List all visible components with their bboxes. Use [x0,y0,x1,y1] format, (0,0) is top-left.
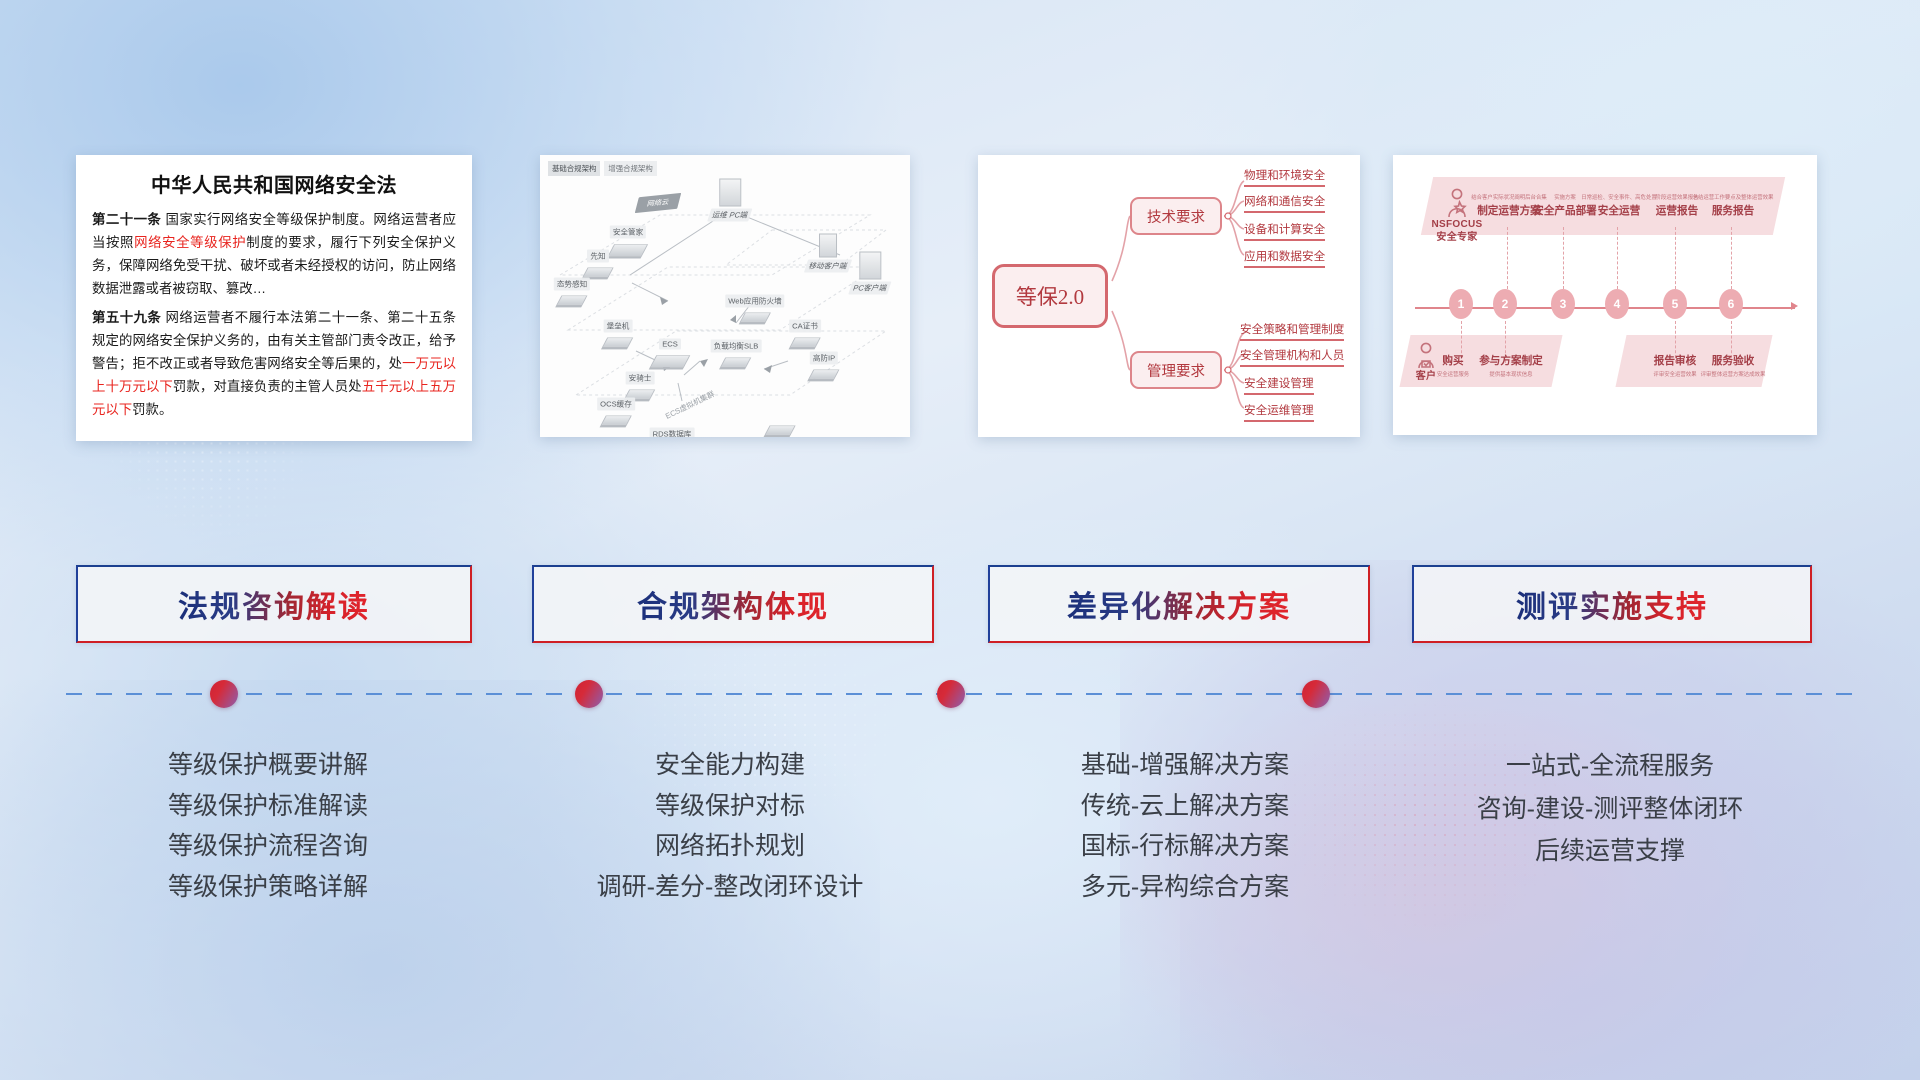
list-item: 咨询-建设-测评整体闭环 [1390,788,1830,831]
list-item: 调研-差分-整改闭环设计 [500,867,960,908]
mindmap-branch-management: 管理要求 [1130,351,1222,389]
architecture-node-waf: Web应用防火墙 [725,295,784,326]
service-dash-5 [1675,227,1676,289]
feature-list-assessment: 一站式-全流程服务 咨询-建设-测评整体闭环 后续运营支撑 [1390,745,1830,873]
timeline-dot-3[interactable] [937,680,965,708]
service-step-operate: 日常巡检、安全事件、高危处置 安全运营 [1581,195,1656,218]
service-step-service-report: 总结运营工作要点及整体运营效果 服务报告 [1693,195,1774,218]
service-dash-6 [1731,227,1732,289]
card-dengbao-mindmap: 等保2.0 技术要求 管理要求 物理和环境安全 网络和通信安全 设备和计算安全 … [978,155,1360,437]
list-item: 等级保护策略详解 [58,867,478,908]
law-article-21-label: 第二十一条 [92,212,161,227]
law-article-59: 第五十九条 网络运营者不履行本法第二十一条、第二十五条规定的网络安全保护义务的，… [92,306,456,421]
law-article-21: 第二十一条 国家实行网络安全等级保护制度。网络运营者应当按照网络安全等级保护制度… [92,208,456,300]
list-item: 国标-行标解决方案 [975,826,1395,867]
section-title-box-solution[interactable]: 差异化解决方案 [988,565,1370,643]
service-dash-4 [1617,227,1618,289]
service-step-join-planning: 参与方案制定 提供基本现状信息 [1479,353,1543,378]
architecture-node-pc-client: PC客户端 [850,252,889,295]
feature-list-solution: 基础-增强解决方案 传统-云上解决方案 国标-行标解决方案 多元-异构综合方案 [975,745,1395,907]
timeline-dot-1[interactable] [210,680,238,708]
architecture-node-xianzhi: 先知 [585,250,611,281]
feature-list-regulation: 等级保护概要讲解 等级保护标准解读 等级保护流程咨询 等级保护策略详解 [58,745,478,907]
architecture-node-ecs: ECS [653,339,687,372]
law-article-21-highlight: 网络安全等级保护 [134,235,246,250]
mindmap-leaf-device-compute: 设备和计算安全 [1244,221,1325,241]
service-dash-3 [1563,227,1564,289]
service-step-report-review: 报告审核 评审安全运营效果 [1653,353,1696,378]
mindmap-branch-technical: 技术要求 [1130,197,1222,235]
architecture-node-anti-ddos-ip: 高防IP [810,352,838,383]
service-step-acceptance: 服务验收 评审整体运营方案达成效果 [1701,353,1766,378]
mindmap-leaf-operations: 安全运维管理 [1244,402,1314,422]
architecture-node-security-butler: 安全管家 [610,226,646,261]
architecture-node-cloud: 网络云 [638,195,679,211]
section-title-box-regulation[interactable]: 法规咨询解读 [76,565,472,643]
architecture-node-rds-database: RDS数据库 [650,428,695,438]
law-title: 中华人民共和国网络安全法 [92,169,456,198]
list-item: 等级保护概要讲解 [58,745,478,786]
section-title-architecture: 合规架构体现 [637,582,829,626]
law-article-59-text-b: 罚款，对直接负责的主管人员处 [173,379,362,394]
service-axis-arrow-icon [1791,302,1798,310]
architecture-node-ocs-cache: OCS缓存 [597,398,635,429]
service-marker-3: 3 [1551,289,1575,319]
architecture-node-ca-certificate: CA证书 [789,320,821,351]
timeline-dot-4[interactable] [1302,680,1330,708]
card-cloud-architecture-diagram: 基础合规架构 增强合规架构 [540,155,910,437]
architecture-node-ecs-cluster: ECS虚拟机集群 [660,399,720,412]
customer-person-icon [1415,341,1437,371]
list-item: 等级保护标准解读 [58,786,478,827]
customer-label: 客户 [1416,371,1437,384]
architecture-node-oss: OSS [767,423,793,438]
mindmap-leaf-org-personnel: 安全管理机构和人员 [1240,347,1344,367]
mindmap-leaf-physical-env: 物理和环境安全 [1244,167,1325,187]
section-title-solution: 差异化解决方案 [1067,582,1291,626]
architecture-node-bastion-host: 堡垒机 [604,320,633,351]
feature-list-architecture: 安全能力构建 等级保护对标 网络拓扑规划 调研-差分-整改闭环设计 [500,745,960,907]
service-marker-5: 5 [1663,289,1687,319]
list-item: 一站式-全流程服务 [1390,745,1830,788]
law-article-59-text-c: 罚款。 [132,402,172,417]
security-expert-person-icon [1445,187,1469,221]
mindmap-root-node: 等保2.0 [992,264,1108,328]
architecture-node-situational-awareness: 态势感知 [554,278,590,309]
law-article-59-label: 第五十九条 [92,310,161,325]
mindmap-leaf-app-data: 应用和数据安全 [1244,248,1325,268]
service-marker-2: 2 [1493,289,1517,319]
list-item: 安全能力构建 [500,745,960,786]
section-title-box-architecture[interactable]: 合规架构体现 [532,565,934,643]
list-item: 网络拓扑规划 [500,826,960,867]
list-item: 等级保护对标 [500,786,960,827]
service-step-purchase: 购买 安全运营服务 [1437,353,1469,378]
card-law-excerpt: 中华人民共和国网络安全法 第二十一条 国家实行网络安全等级保护制度。网络运营者应… [76,155,472,441]
architecture-node-ops-pc: 运维 PC端 [709,179,750,222]
service-marker-6: 6 [1719,289,1743,319]
section-title-regulation: 法规咨询解读 [178,582,370,626]
section-title-box-assessment[interactable]: 测评实施支持 [1412,565,1812,643]
mindmap-leaf-policy-system: 安全策略和管理制度 [1240,321,1344,341]
mindmap-leaf-network-comm: 网络和通信安全 [1244,193,1325,213]
service-marker-1: 1 [1449,289,1473,319]
list-item: 基础-增强解决方案 [975,745,1395,786]
section-title-assessment: 测评实施支持 [1516,582,1708,626]
list-item: 传统-云上解决方案 [975,786,1395,827]
service-provider-label: NSFOCUS 安全专家 [1432,219,1483,244]
service-marker-4: 4 [1605,289,1629,319]
list-item: 多元-异构综合方案 [975,867,1395,908]
card-service-process-timeline: NSFOCUS 安全专家 客户 1 2 3 4 5 6 [1393,155,1817,435]
list-item: 等级保护流程咨询 [58,826,478,867]
service-dash-2 [1507,227,1508,289]
timeline-dot-2[interactable] [575,680,603,708]
mindmap-leaf-construction: 安全建设管理 [1244,375,1314,395]
architecture-node-mobile-client: 移动客户端 [806,234,850,273]
architecture-node-slb: 负载均衡SLB [711,340,762,371]
list-item: 后续运营支撑 [1390,830,1830,873]
timeline-axis [66,693,1856,695]
